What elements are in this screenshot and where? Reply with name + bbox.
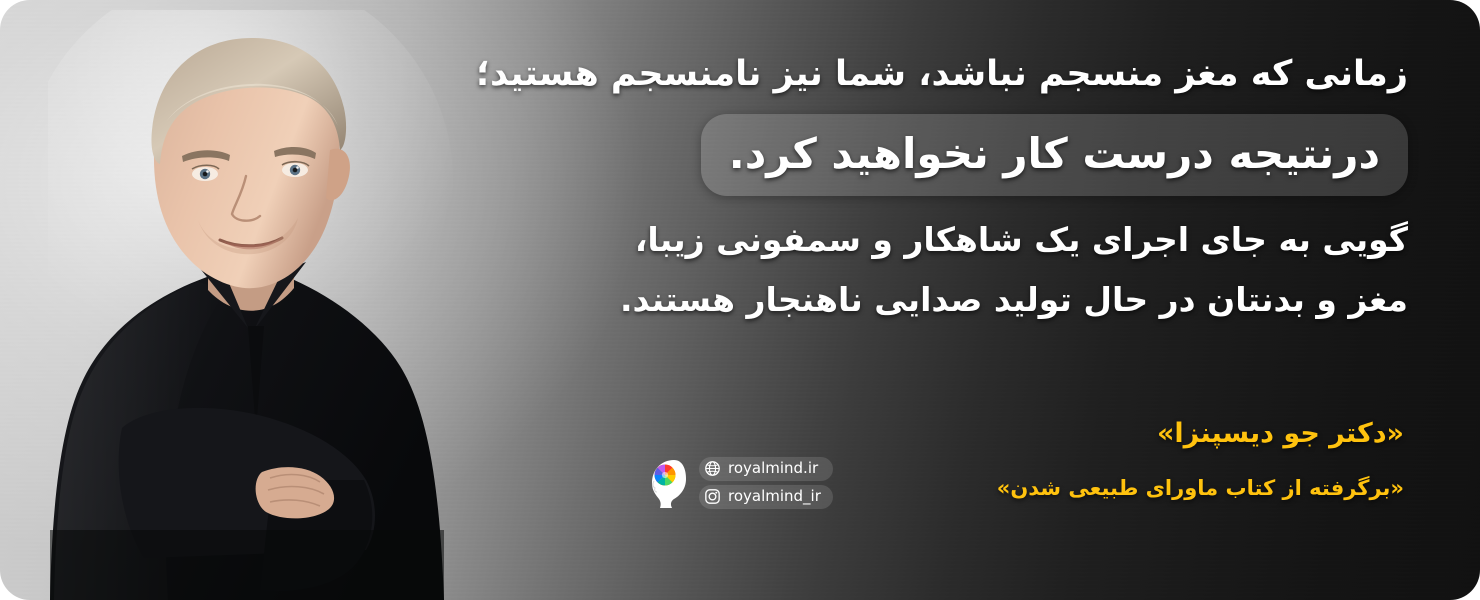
author-name: «دکتر جو دیسپنزا»: [997, 415, 1404, 453]
portrait-image: [48, 10, 468, 600]
social-handles: royalmind.ir royalmind_ir: [699, 457, 833, 509]
book-source: «برگرفته از کتاب ماورای طبیعی شدن»: [997, 471, 1404, 505]
royalmind-brain-head-logo: [648, 455, 692, 511]
globe-icon: [704, 460, 721, 477]
quote-line-4: مغز و بدنتان در حال تولید صدایی ناهنجار …: [448, 270, 1408, 330]
quote-line-3: گویی به جای اجرای یک شاهکار و سمفونی زیب…: [448, 210, 1408, 270]
attribution-block: «دکتر جو دیسپنزا» «برگرفته از کتاب ماورا…: [997, 415, 1404, 505]
handle-pill-website[interactable]: royalmind.ir: [699, 457, 833, 481]
instagram-icon: [704, 488, 721, 505]
quote-highlight-row: درنتیجه درست کار نخواهید کرد.: [448, 114, 1408, 196]
quote-line-2-highlighted: درنتیجه درست کار نخواهید کرد.: [701, 114, 1408, 196]
handle-label-instagram: royalmind_ir: [728, 488, 821, 505]
quote-block: زمانی که مغز منسجم نباشد، شما نیز نامنسج…: [448, 46, 1408, 330]
quote-line-1: زمانی که مغز منسجم نباشد، شما نیز نامنسج…: [448, 46, 1408, 102]
handle-pill-instagram[interactable]: royalmind_ir: [699, 485, 833, 509]
quote-banner: زمانی که مغز منسجم نباشد، شما نیز نامنسج…: [0, 0, 1480, 600]
brand-block: royalmind.ir royalmind_ir: [648, 455, 833, 511]
handle-label-website: royalmind.ir: [728, 460, 818, 477]
